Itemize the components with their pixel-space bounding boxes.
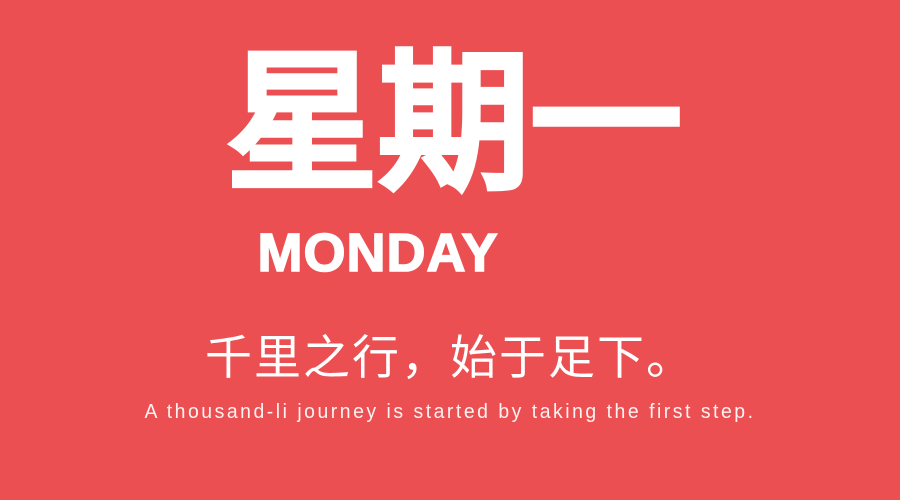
- day-title-english: MONDAY: [0, 226, 828, 280]
- proverb-block: 千里之行，始于足下。 A thousand-li journey is star…: [0, 330, 900, 424]
- proverb-english: A thousand-li journey is started by taki…: [14, 400, 887, 424]
- day-title-chinese: 星期一: [4, 48, 900, 200]
- proverb-chinese: 千里之行，始于足下。: [0, 330, 900, 389]
- monday-greeting-card: 星期一 MONDAY 千里之行，始于足下。 A thousand-li jour…: [0, 0, 900, 500]
